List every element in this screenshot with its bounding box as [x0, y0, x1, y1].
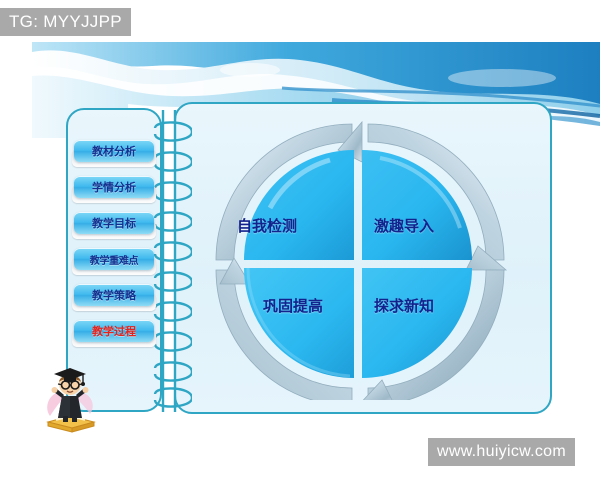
pill-body: 教学目标 — [74, 212, 154, 234]
sidebar-item-4[interactable]: 教学策略 — [70, 284, 158, 306]
quadrant-label-top-left[interactable]: 自我检测 — [237, 215, 297, 236]
quadrant-label-bottom-right[interactable]: 探求新知 — [374, 295, 434, 316]
sidebar-item-1[interactable]: 学情分析 — [70, 176, 158, 198]
teaching-cycle-diagram — [210, 118, 510, 400]
sidebar-item-label: 教学重难点 — [90, 252, 139, 267]
sidebar-item-3[interactable]: 教学重难点 — [70, 248, 158, 270]
pill-body: 教学重难点 — [74, 248, 154, 270]
sidebar-item-2[interactable]: 教学目标 — [70, 212, 158, 234]
sidebar-item-label: 学情分析 — [92, 179, 136, 195]
watermark-bottom-right: www.huiyicw.com — [428, 438, 575, 466]
sidebar-item-5-active[interactable]: 教学过程 — [70, 320, 158, 342]
pill-body: 学情分析 — [74, 176, 154, 198]
pill-body: 教学策略 — [74, 284, 154, 306]
sidebar-nav-list: 教材分析 学情分析 教学目标 教学重难点 教学策略 — [70, 140, 158, 356]
pill-body: 教学过程 — [74, 320, 154, 342]
sidebar-item-label: 教学目标 — [92, 215, 136, 231]
sidebar-item-0[interactable]: 教材分析 — [70, 140, 158, 162]
slide-canvas: 教材分析 学情分析 教学目标 教学重难点 教学策略 — [0, 0, 600, 480]
graduate-student-on-book-icon — [38, 362, 102, 434]
quadrant-label-bottom-left[interactable]: 巩固提高 — [263, 295, 323, 316]
sidebar-item-label: 教材分析 — [92, 143, 136, 159]
sidebar-item-label: 教学过程 — [92, 323, 136, 339]
sidebar-item-label: 教学策略 — [92, 287, 136, 303]
watermark-top-left: TG: MYYJJPP — [0, 8, 131, 36]
pill-body: 教材分析 — [74, 140, 154, 162]
quadrant-label-top-right[interactable]: 激趣导入 — [374, 215, 434, 236]
